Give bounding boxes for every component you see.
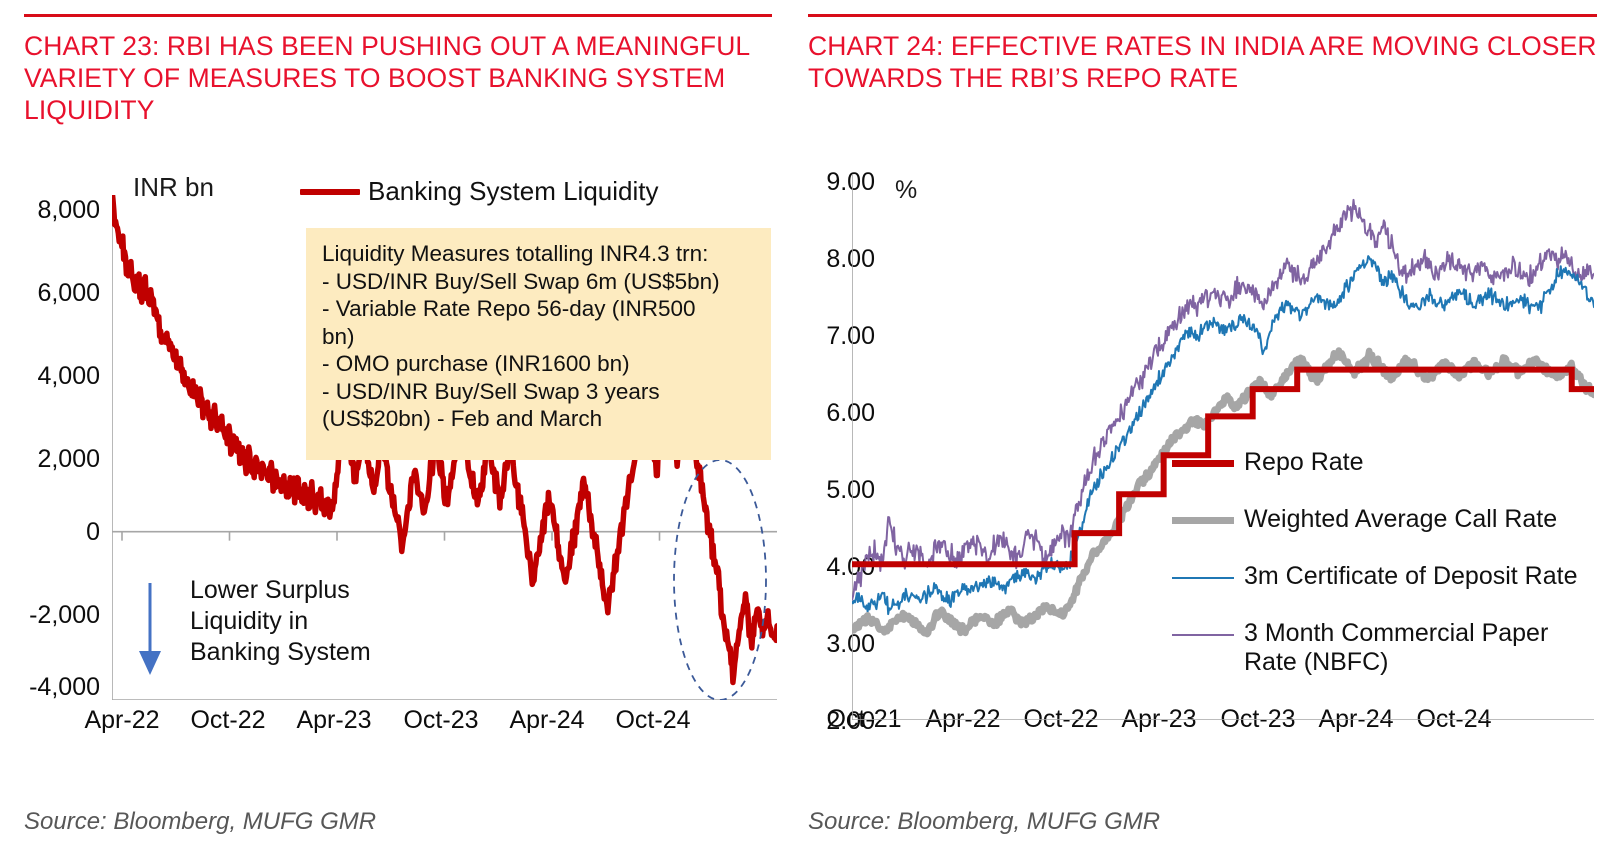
- ytick-0: 0: [0, 518, 100, 547]
- xtick-apr-22: Apr-22: [62, 706, 182, 735]
- annot-line-5: - USD/INR Buy/Sell Swap 3 years: [322, 378, 761, 406]
- annot-line-4: - OMO purchase (INR1600 bn): [322, 350, 761, 378]
- legend-label-weighted-average-call-rate: Weighted Average Call Rate: [1244, 505, 1557, 534]
- chart-23-title: CHART 23: RBI HAS BEEN PUSHING OUT A MEA…: [24, 30, 776, 126]
- legend-item-commercial-paper-rate[interactable]: 3 Month Commercial Paper Rate (NBFC): [1172, 619, 1612, 677]
- legend-item-cd-rate[interactable]: 3m Certificate of Deposit Rate: [1172, 562, 1612, 591]
- annot-line-2: - Variable Rate Repo 56-day (INR500: [322, 295, 761, 323]
- annot-line-1: - USD/INR Buy/Sell Swap 6m (US$5bn): [322, 268, 761, 296]
- legend-swatch-repo-rate: [1172, 460, 1234, 467]
- legend-item-repo-rate[interactable]: Repo Rate: [1172, 448, 1612, 477]
- ytick-2000: 2,000: [0, 445, 100, 474]
- ytick-4000: 4,000: [0, 362, 100, 391]
- legend-swatch-cd-rate: [1172, 577, 1234, 579]
- title-rule-left: [24, 14, 772, 17]
- ytick-6000: 6,000: [0, 279, 100, 308]
- legend-label-cd-rate: 3m Certificate of Deposit Rate: [1244, 562, 1577, 591]
- liquidity-measures-annotation: Liquidity Measures totalling INR4.3 trn:…: [306, 228, 771, 460]
- title-rule-right: [808, 14, 1597, 17]
- annot-line-3: bn): [322, 323, 761, 351]
- annot-line-0: Liquidity Measures totalling INR4.3 trn:: [322, 240, 761, 268]
- xtick-apr-23: Apr-23: [274, 706, 394, 735]
- ytick-8000: 8,000: [0, 196, 100, 225]
- legend-swatch-commercial-paper-rate: [1172, 634, 1234, 636]
- xtick-oct-22: Oct-22: [168, 706, 288, 735]
- chart-24-legend: Repo Rate Weighted Average Call Rate 3m …: [1172, 448, 1612, 705]
- xtick-apr-24: Apr-24: [487, 706, 607, 735]
- chart-24-source: Source: Bloomberg, MUFG GMR: [808, 808, 1160, 836]
- chart-24-title: CHART 24: EFFECTIVE RATES IN INDIA ARE M…: [808, 30, 1601, 94]
- chart-23-source: Source: Bloomberg, MUFG GMR: [24, 808, 376, 836]
- legend-label-repo-rate: Repo Rate: [1244, 448, 1364, 477]
- legend-line-swatch-red: [300, 189, 360, 195]
- chart-24-panel: CHART 24: EFFECTIVE RATES IN INDIA ARE M…: [790, 0, 1621, 862]
- ytick-neg4000: -4,000: [0, 673, 100, 702]
- lower-surplus-liquidity-note: Lower Surplus Liquidity in Banking Syste…: [190, 575, 371, 668]
- legend-swatch-weighted-average-call-rate: [1172, 517, 1234, 524]
- charts-page: CHART 23: RBI HAS BEEN PUSHING OUT A MEA…: [0, 0, 1621, 862]
- legend-item-weighted-average-call-rate[interactable]: Weighted Average Call Rate: [1172, 505, 1612, 534]
- chart-23-panel: CHART 23: RBI HAS BEEN PUSHING OUT A MEA…: [0, 0, 790, 862]
- xtick-oct-23: Oct-23: [381, 706, 501, 735]
- xtick-oct-24: Oct-24: [593, 706, 713, 735]
- ytick-neg2000: -2,000: [0, 601, 100, 630]
- annot-line-6: (US$20bn) - Feb and March: [322, 405, 761, 433]
- legend-label-commercial-paper-rate: 3 Month Commercial Paper Rate (NBFC): [1244, 619, 1548, 677]
